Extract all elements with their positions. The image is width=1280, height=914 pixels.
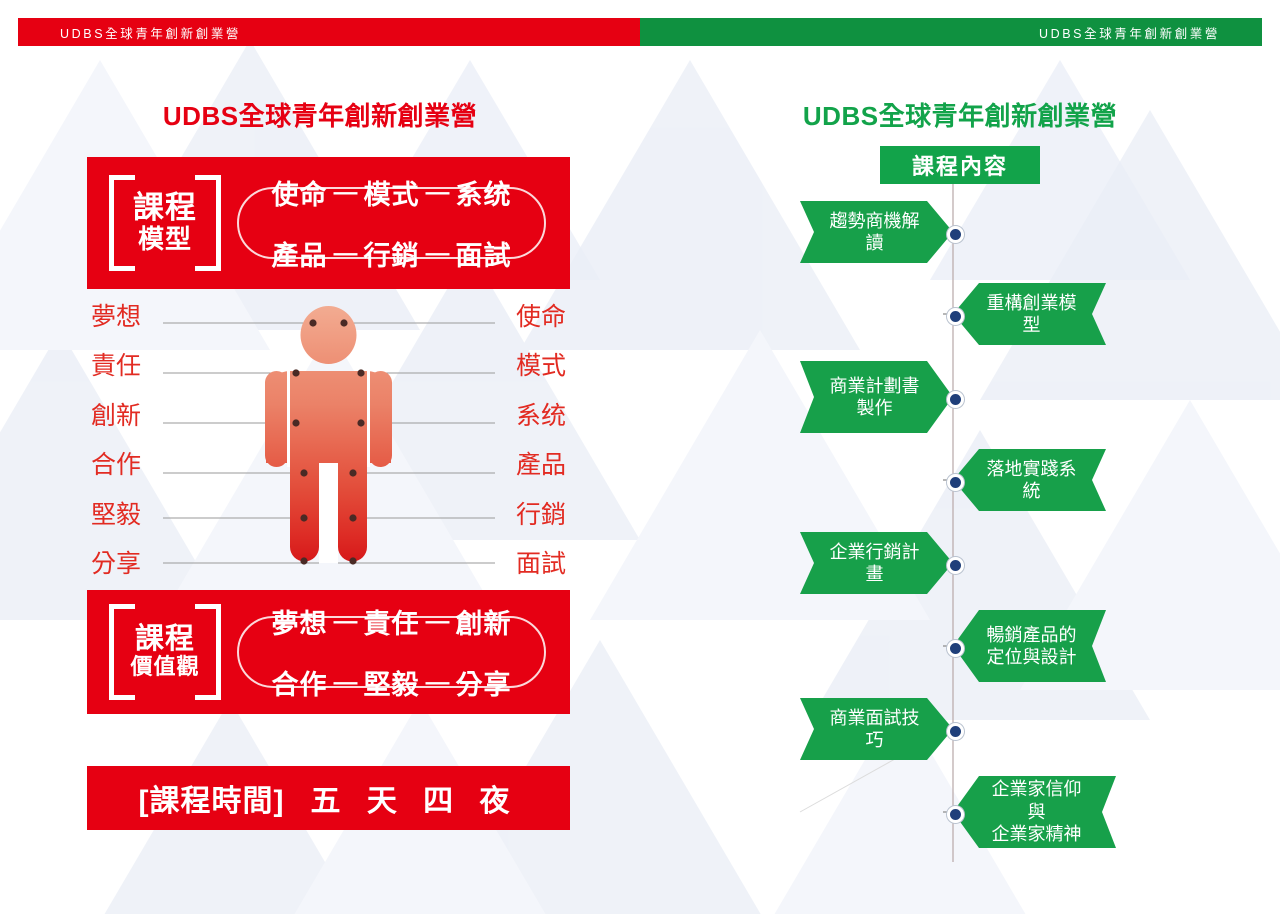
top-banner-left: UDBS全球青年創新創業營 (18, 18, 640, 46)
flow-step-6-label-line2: 定位與設計 (987, 646, 1077, 669)
timeline-spine (640, 0, 1280, 914)
top-banner-right: UDBS全球青年創新創業營 (640, 18, 1262, 46)
flow-step-1[interactable]: 趨勢商機解讀 (800, 201, 953, 263)
flow-node-8 (947, 806, 964, 823)
body-label-right: 模式 (516, 354, 566, 379)
flow-step-6[interactable]: 暢銷產品的 定位與設計 (953, 610, 1106, 682)
flow-node-4 (947, 474, 964, 491)
course-values-loop: 夢想 — 責任 — 創新 合作 — 堅毅 — 分享 (231, 602, 552, 702)
separator-dash: — (424, 240, 452, 268)
course-model-bracket-line1: 課程 (133, 192, 197, 225)
course-duration-label: [課程時間] (139, 776, 285, 820)
flow-node-2 (947, 308, 964, 325)
course-model-word: 系统 (452, 173, 516, 212)
course-values-word: 堅毅 (360, 663, 424, 702)
course-model-loop: 使命 — 模式 — 系统 產品 — 行銷 — 面試 (231, 173, 552, 273)
flow-step-1-label: 趨勢商機解讀 (826, 210, 923, 255)
flow-step-5[interactable]: 企業行銷計畫 (800, 532, 953, 594)
separator-dash: — (332, 179, 360, 207)
course-values-row-1: 夢想 — 責任 — 創新 (231, 602, 552, 641)
left-panel-title: UDBS全球青年創新創業營 (0, 96, 640, 133)
top-banner-left-text: UDBS全球青年創新創業營 (60, 23, 241, 42)
course-model-word: 面試 (452, 234, 516, 273)
course-values-word: 創新 (452, 602, 516, 641)
course-model-word: 行銷 (360, 234, 424, 273)
left-panel: UDBS全球青年創新創業營 課程 模型 使命 — 模式 — 系统 產品 — 行銷… (0, 0, 640, 914)
course-model-word: 模式 (360, 173, 424, 212)
flow-node-3 (947, 391, 964, 408)
course-values-bracket: 課程 價值觀 (109, 604, 221, 700)
flow-step-8[interactable]: 企業家信仰與 企業家精神 (953, 776, 1116, 848)
course-model-word: 產品 (268, 234, 332, 273)
flow-node-7 (947, 723, 964, 740)
flow-step-7-label: 商業面試技巧 (826, 707, 923, 752)
course-values-bracket-line1: 課程 (135, 624, 195, 654)
right-panel: UDBS全球青年創新創業營 課程內容 趨勢商機解讀 重構創業模型 (640, 0, 1280, 914)
body-diagram-right-labels: 使命 模式 系统 產品 行銷 面試 (494, 305, 566, 577)
course-values-row-2: 合作 — 堅毅 — 分享 (231, 663, 552, 702)
course-model-word: 使命 (268, 173, 332, 212)
flow-step-8-label-line1: 企業家信仰與 (983, 778, 1090, 823)
separator-dash: — (424, 669, 452, 697)
course-values-word: 責任 (360, 602, 424, 641)
flow-step-3[interactable]: 商業計劃書 製作 (800, 361, 953, 433)
course-model-bracket: 課程 模型 (109, 175, 221, 271)
body-label-right: 使命 (516, 305, 566, 330)
flow-node-1 (947, 226, 964, 243)
course-duration-box: [課程時間] 五 天 四 夜 (87, 766, 570, 830)
separator-dash: — (332, 240, 360, 268)
course-values-bracket-line2: 價值觀 (130, 655, 199, 680)
course-content-badge: 課程內容 (880, 146, 1040, 184)
separator-dash: — (332, 669, 360, 697)
course-content-flow: 課程內容 趨勢商機解讀 重構創業模型 商業計劃書 製作 (640, 0, 1280, 914)
body-label-right: 行銷 (516, 503, 566, 528)
course-values-word: 合作 (268, 663, 332, 702)
course-content-badge-label: 課程內容 (912, 149, 1008, 181)
course-values-word: 夢想 (268, 602, 332, 641)
course-values-box: 課程 價值觀 夢想 — 責任 — 創新 合作 — 堅毅 — 分享 (87, 590, 570, 714)
flow-step-3-label-line1: 商業計劃書 (830, 375, 920, 398)
separator-dash: — (424, 608, 452, 636)
flow-node-5 (947, 557, 964, 574)
course-model-box: 課程 模型 使命 — 模式 — 系统 產品 — 行銷 — 面試 (87, 157, 570, 289)
flow-step-8-label-line2: 企業家精神 (992, 823, 1082, 846)
body-label-right: 面試 (516, 552, 566, 577)
flow-node-6 (947, 640, 964, 657)
course-model-bracket-line2: 模型 (138, 225, 192, 254)
flow-step-4-label: 落地實踐系統 (983, 458, 1080, 503)
course-model-row-2: 產品 — 行銷 — 面試 (231, 234, 552, 273)
top-banner: UDBS全球青年創新創業營 UDBS全球青年創新創業營 (18, 18, 1262, 46)
separator-dash: — (332, 608, 360, 636)
course-values-word: 分享 (452, 663, 516, 702)
body-label-right: 系统 (516, 404, 566, 429)
top-banner-right-text: UDBS全球青年創新創業營 (1039, 23, 1220, 42)
body-label-right: 產品 (516, 453, 566, 478)
flow-step-5-label: 企業行銷計畫 (826, 541, 923, 586)
flow-step-6-label-line1: 暢銷產品的 (987, 624, 1077, 647)
course-model-row-1: 使命 — 模式 — 系统 (231, 173, 552, 212)
flow-step-3-label-line2: 製作 (857, 397, 893, 420)
course-duration-value: 五 天 四 夜 (310, 776, 518, 820)
flow-step-2[interactable]: 重構創業模型 (953, 283, 1106, 345)
flow-step-7[interactable]: 商業面試技巧 (800, 698, 953, 760)
body-diagram: 夢想 責任 創新 合作 堅毅 分享 (87, 305, 570, 577)
flow-step-2-label: 重構創業模型 (983, 292, 1080, 337)
separator-dash: — (424, 179, 452, 207)
flow-step-4[interactable]: 落地實踐系統 (953, 449, 1106, 511)
